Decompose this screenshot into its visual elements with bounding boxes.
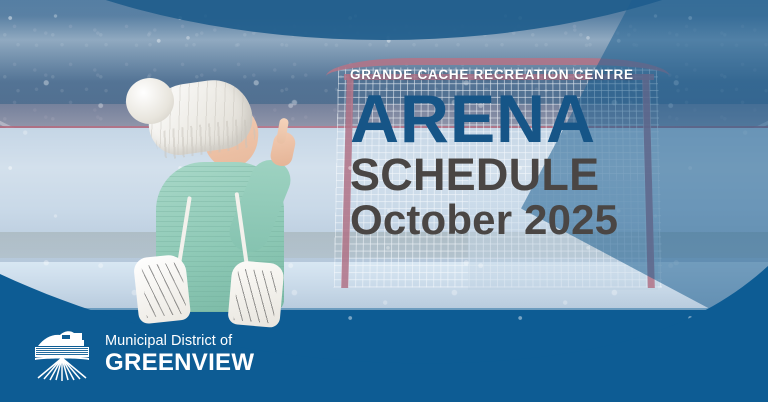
greenview-crest-icon bbox=[32, 326, 92, 382]
greenview-logo[interactable]: Municipal District of GREENVIEW bbox=[32, 326, 254, 382]
page-title: ARENA bbox=[350, 88, 690, 151]
headline-block: GRANDE CACHE RECREATION CENTRE ARENA SCH… bbox=[350, 68, 690, 242]
facility-name: GRANDE CACHE RECREATION CENTRE bbox=[350, 68, 690, 82]
schedule-month: October 2025 bbox=[350, 198, 690, 242]
logo-line-greenview: GREENVIEW bbox=[105, 350, 254, 375]
arena-schedule-banner: GRANDE CACHE RECREATION CENTRE ARENA SCH… bbox=[0, 0, 768, 402]
page-subtitle: SCHEDULE bbox=[350, 152, 690, 197]
hat-pompom bbox=[126, 78, 174, 124]
logo-line-municipal-district: Municipal District of bbox=[105, 333, 254, 349]
logo-wordmark: Municipal District of GREENVIEW bbox=[105, 333, 254, 374]
